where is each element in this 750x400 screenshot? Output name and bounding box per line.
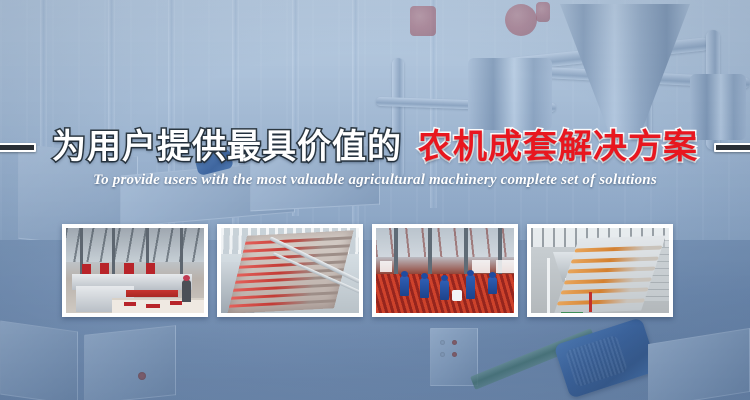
worker-blue-uniform xyxy=(488,277,497,294)
red-product xyxy=(146,304,160,308)
green-base xyxy=(561,312,583,313)
worker-blue-uniform xyxy=(400,276,409,296)
thumbnail-image-chili-workers xyxy=(376,228,514,313)
gallery-thumbnail-4[interactable] xyxy=(527,224,673,317)
red-product xyxy=(124,302,136,306)
conveyor-slat xyxy=(244,237,351,245)
produce-row xyxy=(557,298,645,305)
produce-row xyxy=(574,245,662,252)
worker-blue-uniform xyxy=(466,275,475,299)
conveyor-slat xyxy=(236,268,343,276)
support-column xyxy=(428,228,432,281)
headline-row: 为用户提供最具价值的 农机成套解决方案 xyxy=(0,124,750,170)
decorative-dash-left xyxy=(0,143,36,152)
thumbnail-image-factory-line xyxy=(66,228,204,313)
produce-row xyxy=(564,277,652,284)
thumbnail-image-conveyor-peppers xyxy=(221,228,359,313)
red-product-sheet xyxy=(126,290,178,297)
inclined-conveyor xyxy=(554,235,665,313)
background-vignette xyxy=(0,0,750,400)
red-marker xyxy=(589,292,592,312)
background-factory-photo xyxy=(0,0,750,400)
gallery-thumbnail-3[interactable] xyxy=(372,224,518,317)
thumbnail-image-produce-elevator xyxy=(531,228,669,313)
worker-blue-uniform xyxy=(440,280,449,300)
produce-row xyxy=(567,266,655,273)
gallery-thumbnail-1[interactable] xyxy=(62,224,208,317)
conveyor-slat xyxy=(229,299,336,307)
warehouse-window xyxy=(496,260,514,273)
worker-blue-uniform xyxy=(420,278,429,298)
headline-highlight-text: 农机成套解决方案 xyxy=(418,125,698,169)
conveyor-slat xyxy=(232,283,339,291)
factory-worker xyxy=(182,280,191,302)
decorative-dash-right xyxy=(714,143,750,152)
headline-subtitle: To provide users with the most valuable … xyxy=(0,172,750,189)
conveyor-slat xyxy=(240,252,347,260)
support-column xyxy=(394,228,398,281)
warehouse-window xyxy=(472,260,490,273)
support-post xyxy=(547,258,550,313)
gallery-thumbnail-2[interactable] xyxy=(217,224,363,317)
roof-structure xyxy=(66,228,204,262)
produce-row xyxy=(570,256,658,263)
white-sack xyxy=(452,290,462,301)
promo-banner: 为用户提供最具价值的 农机成套解决方案 To provide users wit… xyxy=(0,0,750,400)
headline-lead-text: 为用户提供最具价值的 xyxy=(52,125,402,169)
warehouse-window xyxy=(380,261,392,272)
thumbnail-gallery xyxy=(62,224,673,317)
conveyor-slat xyxy=(230,291,337,299)
red-product xyxy=(170,301,182,305)
produce-row xyxy=(560,287,648,294)
